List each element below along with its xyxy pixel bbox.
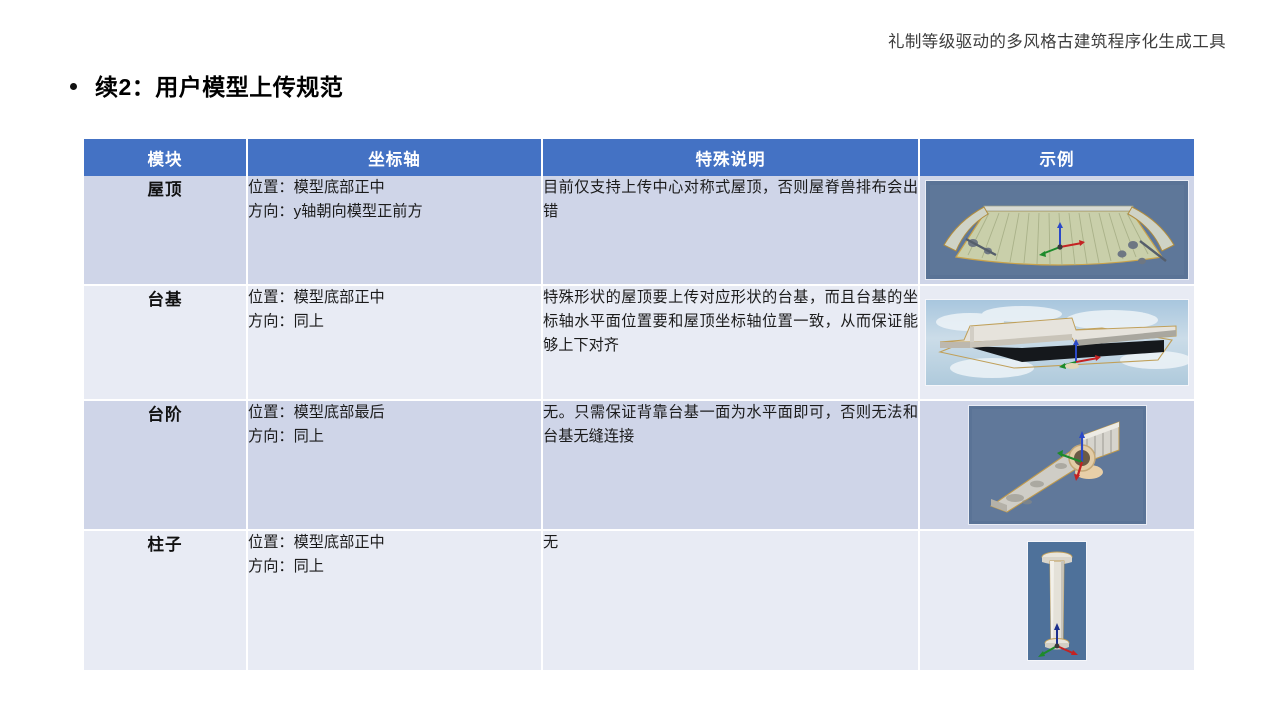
axis-direction-text: 方向：同上 [248,425,541,449]
table-row: 台基 位置：模型底部正中 方向：同上 特殊形状的屋顶要上传对应形状的台基，而且台… [84,286,1194,401]
roof-model-thumbnail [926,181,1188,279]
upload-spec-table: 模块 坐标轴 特殊说明 示例 屋顶 位置：模型底部正中 方向：y轴朝向模型正前方… [84,139,1194,670]
cell-module-column: 柱子 [84,531,248,670]
platform-model-thumbnail [926,300,1188,385]
stairs-model-thumbnail [969,406,1146,524]
cell-demo-roof [920,176,1194,286]
axis-position-text: 位置：模型底部正中 [248,531,541,555]
cell-demo-base [920,286,1194,401]
cell-axis-column: 位置：模型底部正中 方向：同上 [248,531,543,670]
pillar-model-thumbnail [1028,542,1086,660]
cell-note-column: 无 [543,531,920,670]
cell-module-roof: 屋顶 [84,176,248,286]
axis-position-text: 位置：模型底部最后 [248,401,541,425]
cell-axis-stair: 位置：模型底部最后 方向：同上 [248,401,543,531]
cell-axis-base: 位置：模型底部正中 方向：同上 [248,286,543,401]
slide-title-block: 续2：用户模型上传规范 [70,68,343,102]
column-header-note: 特殊说明 [543,139,920,176]
cell-module-stair: 台阶 [84,401,248,531]
axis-direction-text: 方向：同上 [248,310,541,334]
column-header-module: 模块 [84,139,248,176]
table-row: 柱子 位置：模型底部正中 方向：同上 无 [84,531,1194,670]
cell-demo-column [920,531,1194,670]
table-row: 屋顶 位置：模型底部正中 方向：y轴朝向模型正前方 目前仅支持上传中心对称式屋顶… [84,176,1194,286]
column-header-demo: 示例 [920,139,1194,176]
axis-position-text: 位置：模型底部正中 [248,286,541,310]
cell-demo-stair [920,401,1194,531]
axis-position-text: 位置：模型底部正中 [248,176,541,200]
cell-note-base: 特殊形状的屋顶要上传对应形状的台基，而且台基的坐标轴水平面位置要和屋顶坐标轴位置… [543,286,920,401]
column-header-axis: 坐标轴 [248,139,543,176]
page-title: 续2：用户模型上传规范 [95,68,343,102]
cell-note-roof: 目前仅支持上传中心对称式屋顶，否则屋脊兽排布会出错 [543,176,920,286]
bullet-point-icon [70,83,77,90]
table-header-row: 模块 坐标轴 特殊说明 示例 [84,139,1194,176]
slide-canvas: 礼制等级驱动的多风格古建筑程序化生成工具 续2：用户模型上传规范 模块 坐标轴 … [0,0,1280,721]
running-header: 礼制等级驱动的多风格古建筑程序化生成工具 [888,28,1226,52]
axis-direction-text: 方向：同上 [248,555,541,579]
cell-note-stair: 无。只需保证背靠台基一面为水平面即可，否则无法和台基无缝连接 [543,401,920,531]
cell-axis-roof: 位置：模型底部正中 方向：y轴朝向模型正前方 [248,176,543,286]
table-row: 台阶 位置：模型底部最后 方向：同上 无。只需保证背靠台基一面为水平面即可，否则… [84,401,1194,531]
axis-direction-text: 方向：y轴朝向模型正前方 [248,200,541,224]
cell-module-base: 台基 [84,286,248,401]
